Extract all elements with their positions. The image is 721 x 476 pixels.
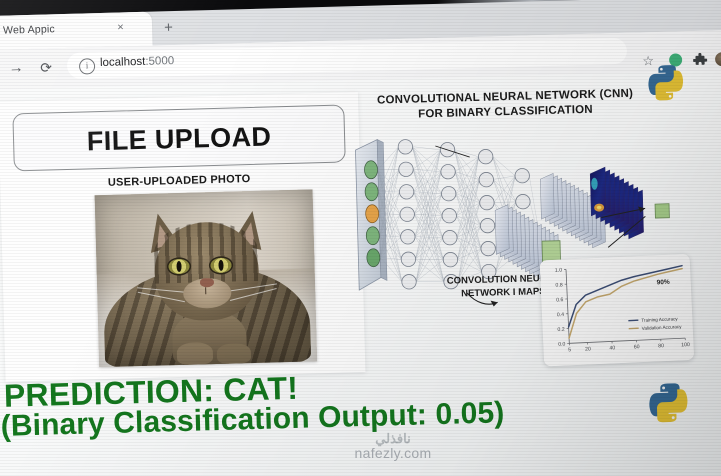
svg-text:0.6: 0.6: [556, 297, 564, 303]
svg-text:80: 80: [658, 343, 664, 349]
file-upload-dropzone[interactable]: FILE UPLOAD: [12, 104, 345, 171]
output-block: [655, 204, 669, 218]
svg-text:5: 5: [568, 347, 571, 353]
uploaded-photo: [95, 189, 318, 367]
watermark-arabic: نافذلي: [318, 432, 468, 445]
browser-tab-title: Web Appic: [3, 23, 55, 36]
svg-text:0.4: 0.4: [557, 312, 565, 318]
python-logo: [646, 377, 691, 428]
svg-text:100: 100: [681, 342, 690, 348]
monitor-browser-window: Web Appic × + ← → ⟳ i localhost:5000 ☆ ⋮…: [0, 0, 721, 476]
close-icon[interactable]: ×: [113, 20, 128, 35]
watermark-url: nafezly.com: [318, 445, 468, 461]
file-upload-card: FILE UPLOAD USER-UPLOADED PHOTO: [0, 92, 365, 382]
web-page-viewport: FILE UPLOAD USER-UPLOADED PHOTO: [0, 70, 721, 476]
file-upload-label: FILE UPLOAD: [14, 119, 345, 159]
svg-text:0.8: 0.8: [555, 282, 563, 288]
svg-text:1.0: 1.0: [555, 268, 563, 274]
reload-icon[interactable]: ⟳: [35, 56, 58, 79]
photo-vignette: [95, 189, 318, 367]
svg-text:0.2: 0.2: [557, 327, 565, 333]
svg-text:60: 60: [634, 344, 640, 350]
url-port: :5000: [145, 55, 174, 68]
accuracy-chart-card: 0.00.20.40.60.81.0 520406080100 Training…: [540, 254, 695, 367]
profile-avatar[interactable]: [715, 52, 721, 66]
screenshot-stage: Web Appic × + ← → ⟳ i localhost:5000 ☆ ⋮…: [0, 0, 721, 476]
svg-text:0.0: 0.0: [558, 341, 566, 347]
forward-icon[interactable]: →: [5, 57, 28, 80]
input-layer-plate: [355, 139, 387, 290]
accuracy-line-chart: 0.00.20.40.60.81.0 520406080100 Training…: [540, 254, 695, 367]
watermark: نافذلي nafezly.com: [318, 432, 468, 461]
python-logo: [645, 59, 686, 106]
new-tab-icon[interactable]: +: [160, 19, 177, 36]
extensions-puzzle-icon[interactable]: [693, 53, 707, 67]
chart-annotation: 90%: [657, 279, 670, 287]
svg-text:40: 40: [609, 345, 615, 351]
address-bar-url: localhost:5000: [100, 55, 174, 69]
svg-text:20: 20: [585, 346, 591, 352]
url-host: localhost: [100, 56, 146, 69]
uploaded-photo-caption: USER-UPLOADED PHOTO: [14, 170, 344, 191]
